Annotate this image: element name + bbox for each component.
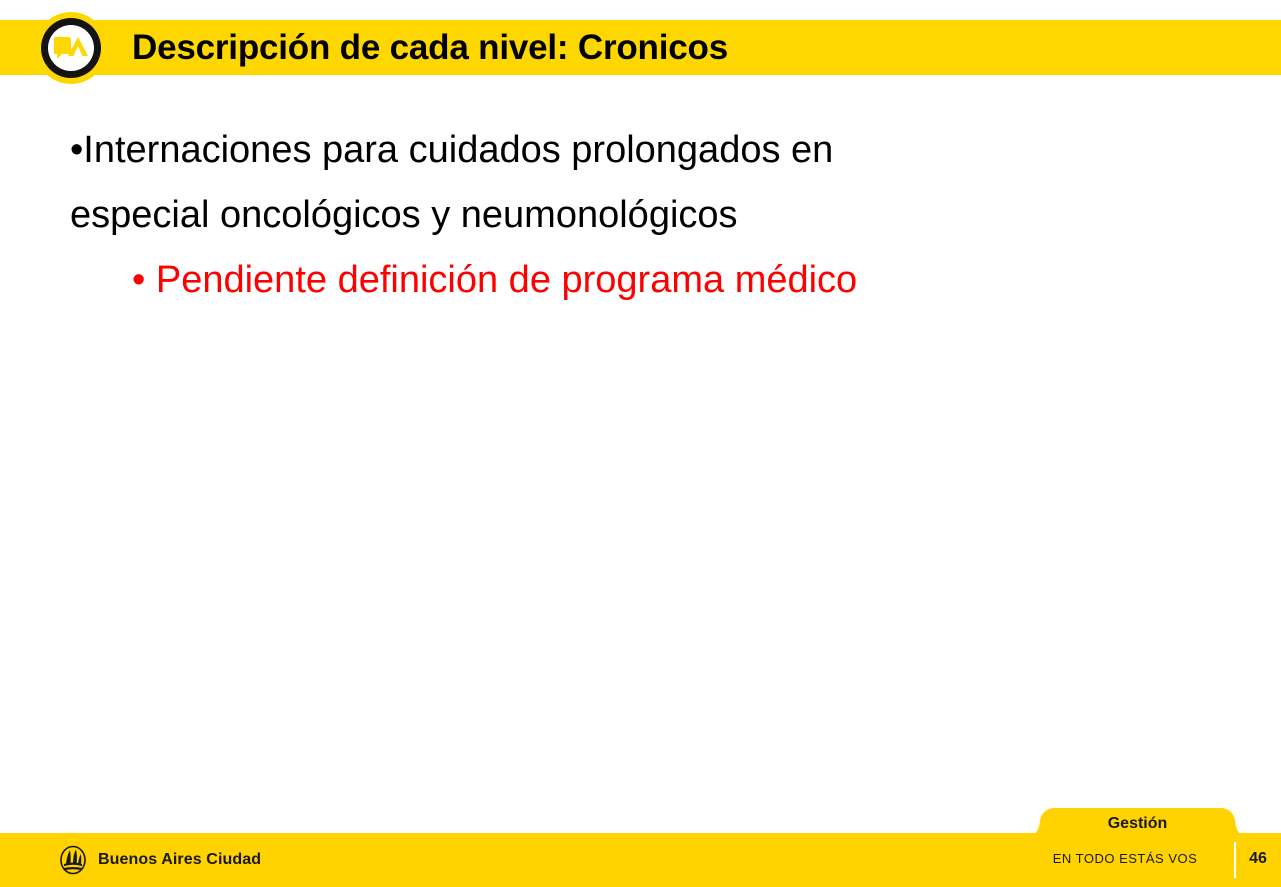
page-number: 46 <box>1240 850 1276 868</box>
logo-ba-letters-icon <box>48 25 94 71</box>
page-title: Descripción de cada nivel: Cronicos <box>132 24 728 72</box>
brand-lockup: Buenos Aires Ciudad <box>58 845 261 875</box>
footer-tagline: EN TODO ESTÁS VOS <box>1030 851 1220 866</box>
bullet-line-1: •Internaciones para cuidados prolongados… <box>70 118 1200 183</box>
buenos-aires-crest-icon <box>58 845 88 875</box>
content-block: •Internaciones para cuidados prolongados… <box>70 118 1200 313</box>
gestion-tab-label: Gestión <box>1040 815 1235 833</box>
brand-label: Buenos Aires Ciudad <box>98 851 261 869</box>
buenos-aires-ba-logo-icon <box>35 12 107 84</box>
footer-divider <box>1234 842 1236 878</box>
logo-inner-disc <box>48 25 94 71</box>
slide-canvas: Descripción de cada nivel: Cronicos •Int… <box>0 0 1281 887</box>
highlight-bullet-line: • Pendiente definición de programa médic… <box>70 248 1200 313</box>
bullet-line-2: especial oncológicos y neumonológicos <box>70 183 1200 248</box>
